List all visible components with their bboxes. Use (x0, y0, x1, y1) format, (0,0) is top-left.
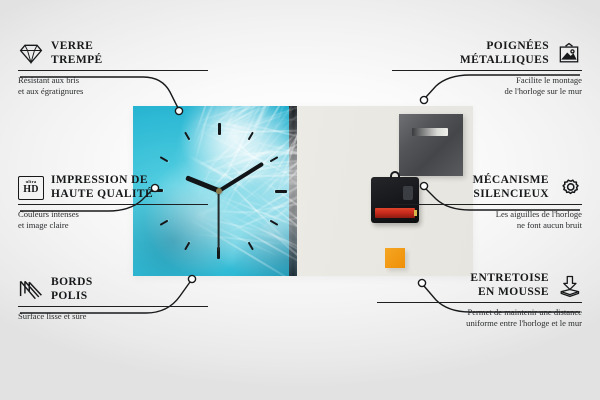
metal-handle-slot (412, 128, 448, 136)
feature-title: IMPRESSION DE HAUTE QUALITÉ (51, 174, 153, 201)
feature-head: BORDS POLIS (18, 276, 208, 303)
feature-description: Résistant aux bris et aux égratignures (18, 75, 208, 96)
feature-rule (18, 306, 208, 307)
feature-impression-haute-qualite: ultra HD IMPRESSION DE HAUTE QUALITÉ Cou… (18, 174, 208, 230)
feature-head: MÉCANISME SILENCIEUX (392, 174, 582, 201)
feature-description: Couleurs intenses et image claire (18, 209, 208, 230)
foam-spacer-icon (556, 274, 582, 298)
picture-frame-icon (556, 42, 582, 66)
clock-tick-mark (218, 123, 220, 191)
feature-rule (392, 70, 582, 71)
feature-rule (392, 204, 582, 205)
feature-rule (18, 204, 208, 205)
feature-bords-polis: BORDS POLIS Surface lisse et sûre (18, 276, 208, 322)
feature-head: ultra HD IMPRESSION DE HAUTE QUALITÉ (18, 174, 208, 201)
gear-icon (556, 176, 582, 200)
polished-edges-icon (18, 278, 44, 302)
feature-description: Surface lisse et sûre (18, 311, 208, 322)
feature-title: MÉCANISME SILENCIEUX (473, 174, 549, 201)
feature-head: ENTRETOISE EN MOUSSE (377, 272, 582, 299)
clock-second-hand (218, 191, 220, 251)
feature-description: Les aiguilles de l'horloge ne font aucun… (392, 209, 582, 230)
feature-mecanisme-silencieux: MÉCANISME SILENCIEUX Les aiguilles de l'… (392, 174, 582, 230)
feature-description: Facilite le montage de l'horloge sur le … (392, 75, 582, 96)
feature-title: ENTRETOISE EN MOUSSE (470, 272, 549, 299)
infographic-canvas: VERRE TREMPÉ Résistant aux bris et aux é… (0, 0, 600, 400)
feature-rule (18, 70, 208, 71)
ultra-hd-icon: ultra HD (18, 176, 44, 200)
feature-verre-trempe: VERRE TREMPÉ Résistant aux bris et aux é… (18, 40, 208, 96)
feature-head: VERRE TREMPÉ (18, 40, 208, 67)
feature-rule (377, 302, 582, 303)
clock-tick-mark (219, 190, 287, 192)
feature-entretoise-en-mousse: ENTRETOISE EN MOUSSE Permet de maintenir… (377, 272, 582, 328)
clock-center-cap (216, 188, 222, 194)
feature-head: POIGNÉES MÉTALLIQUES (392, 40, 582, 67)
feature-description: Permet de maintenir une distance uniform… (377, 307, 582, 328)
metal-handle-swatch (399, 114, 463, 176)
ultra-hd-icon-main-text: HD (23, 185, 38, 195)
feature-title: BORDS POLIS (51, 276, 93, 303)
feature-poignees-metalliques: POIGNÉES MÉTALLIQUES Facilite le montage… (392, 40, 582, 96)
feature-title: POIGNÉES MÉTALLIQUES (460, 40, 549, 67)
feature-title: VERRE TREMPÉ (51, 40, 103, 67)
foam-spacer-swatch (385, 248, 405, 268)
diamond-icon (18, 42, 44, 66)
